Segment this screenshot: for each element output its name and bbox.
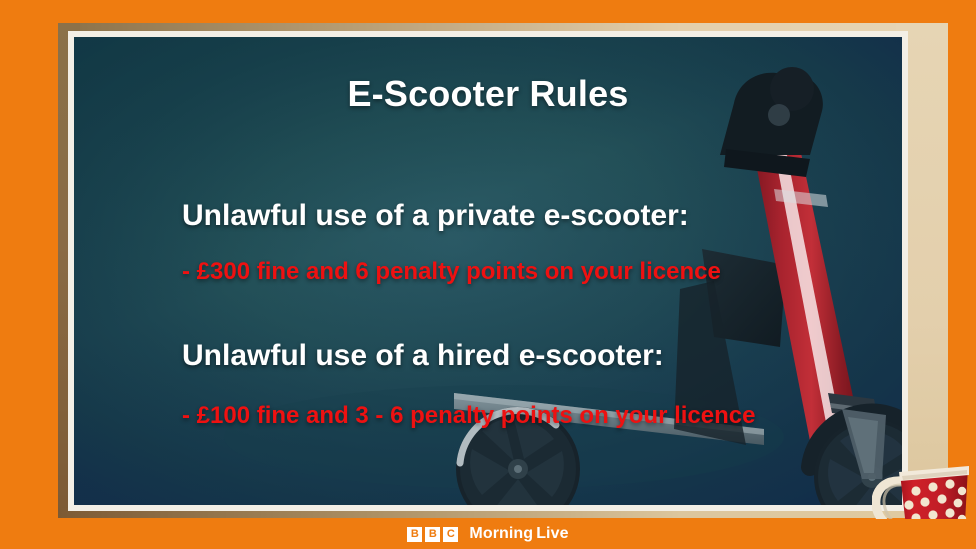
rule-title-private: Unlawful use of a private e-scooter: — [182, 199, 689, 233]
bbc-logo-letter-2: B — [425, 527, 440, 542]
bbc-logo-letter-1: B — [407, 527, 422, 542]
bbc-logo-letter-3: C — [443, 527, 458, 542]
bbc-logo: B B C — [407, 527, 458, 542]
info-panel: E-Scooter Rules Unlawful use of a privat… — [74, 37, 902, 505]
rule-penalty-hired: - £100 fine and 3 - 6 penalty points on … — [182, 402, 755, 430]
programme-name: MorningLive — [469, 525, 568, 543]
page-title: E-Scooter Rules — [74, 73, 902, 115]
programme-footer-bar: B B C MorningLive — [0, 519, 976, 549]
rule-title-hired: Unlawful use of a hired e-scooter: — [182, 339, 664, 373]
programme-name-word2: Live — [536, 525, 568, 542]
broadcast-graphic: E-Scooter Rules Unlawful use of a privat… — [0, 0, 976, 549]
rule-penalty-private: - £300 fine and 6 penalty points on your… — [182, 258, 721, 286]
programme-name-word1: Morning — [469, 525, 533, 542]
